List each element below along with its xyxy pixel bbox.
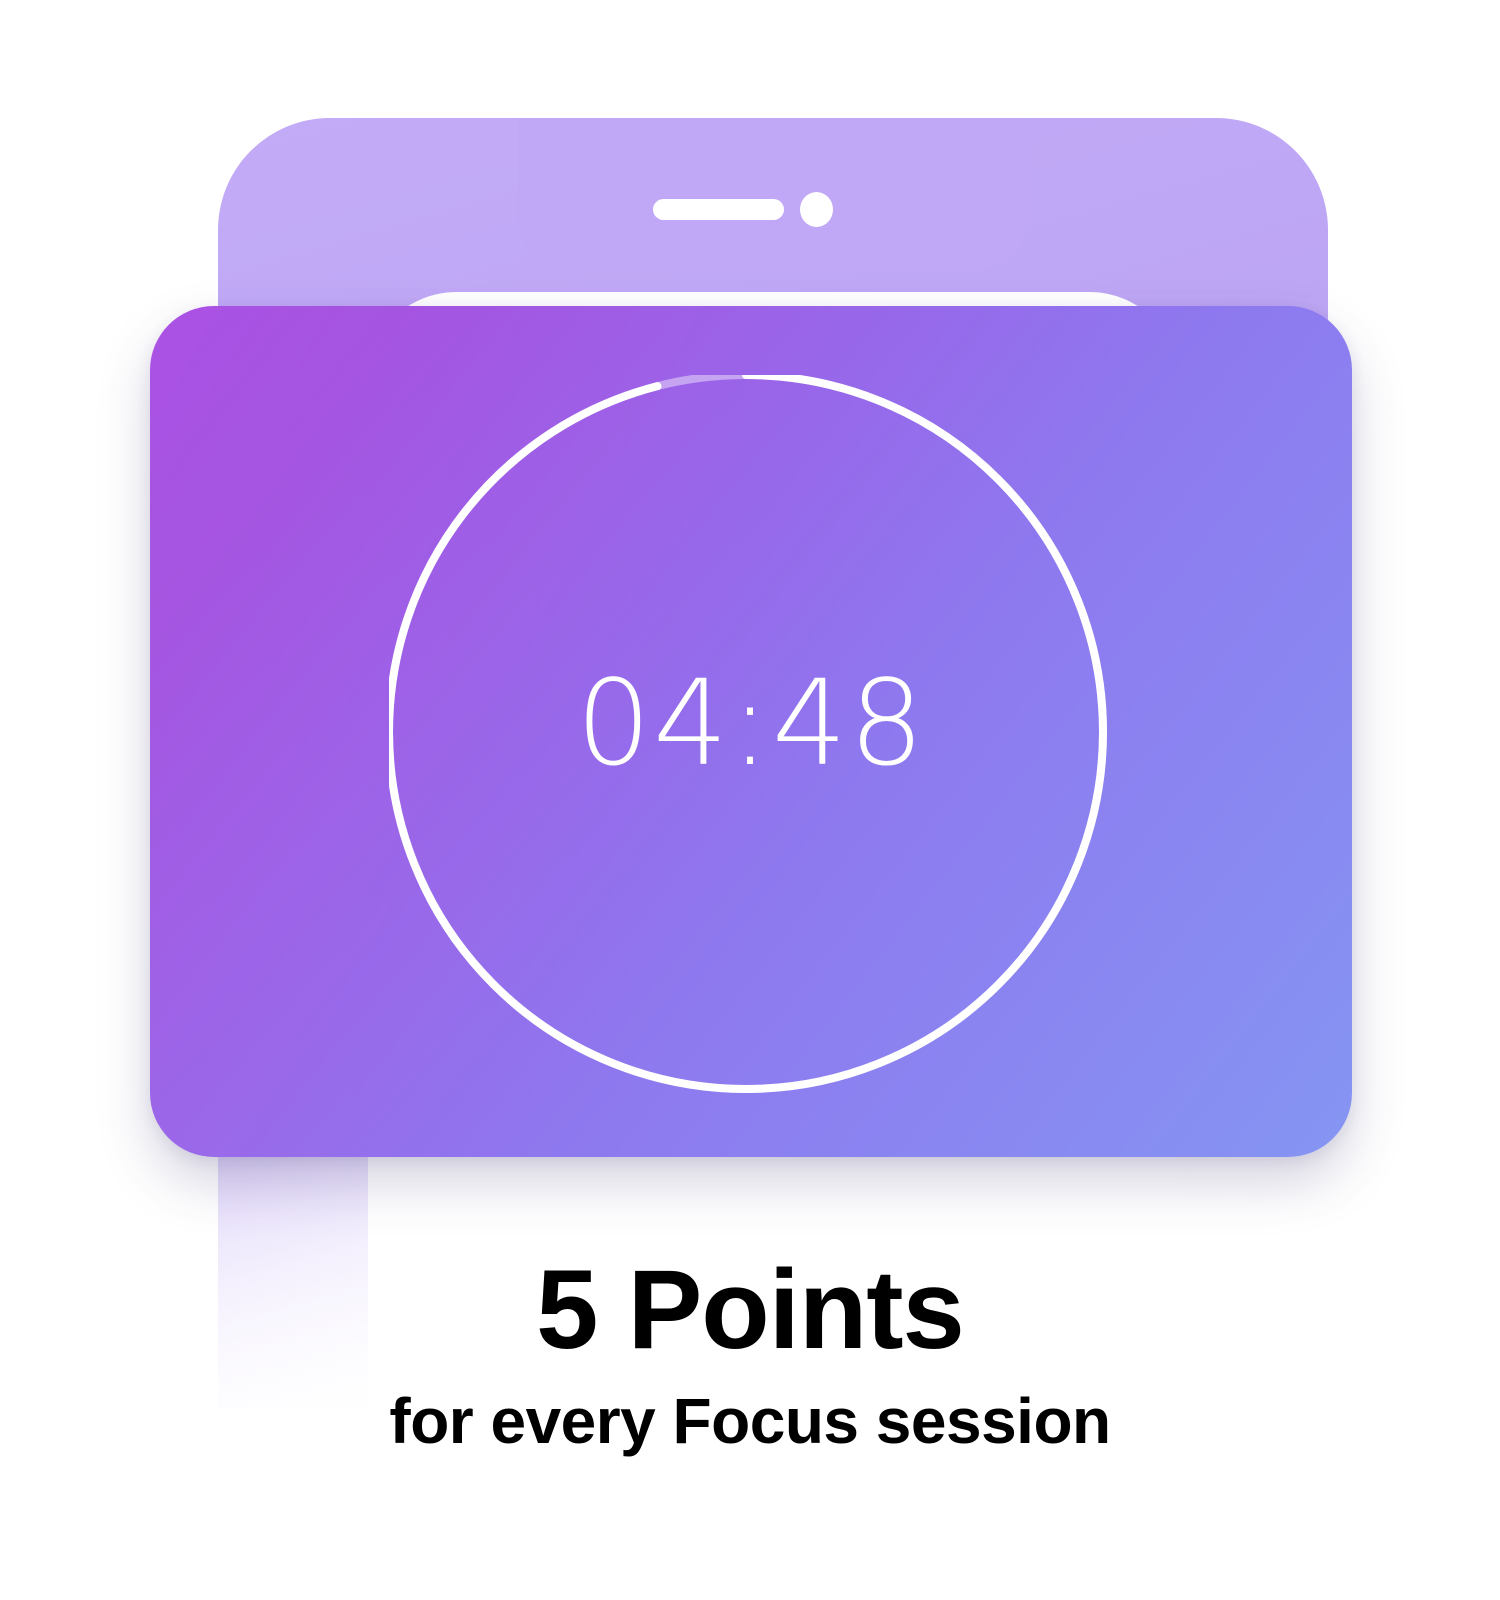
points-headline: 5 Points [0, 1252, 1500, 1368]
points-subheadline: for every Focus session [0, 1386, 1500, 1456]
front-camera-icon [800, 192, 833, 227]
promo-canvas: 04:48 5 Points for every Focus session [0, 0, 1500, 1600]
phone-notch [518, 118, 1028, 270]
focus-timer-screen: 04:48 [150, 306, 1352, 1157]
countdown-timer-readout: 04:48 [150, 664, 1352, 782]
caption-block: 5 Points for every Focus session [0, 1252, 1500, 1457]
speaker-grille-icon [653, 199, 784, 220]
